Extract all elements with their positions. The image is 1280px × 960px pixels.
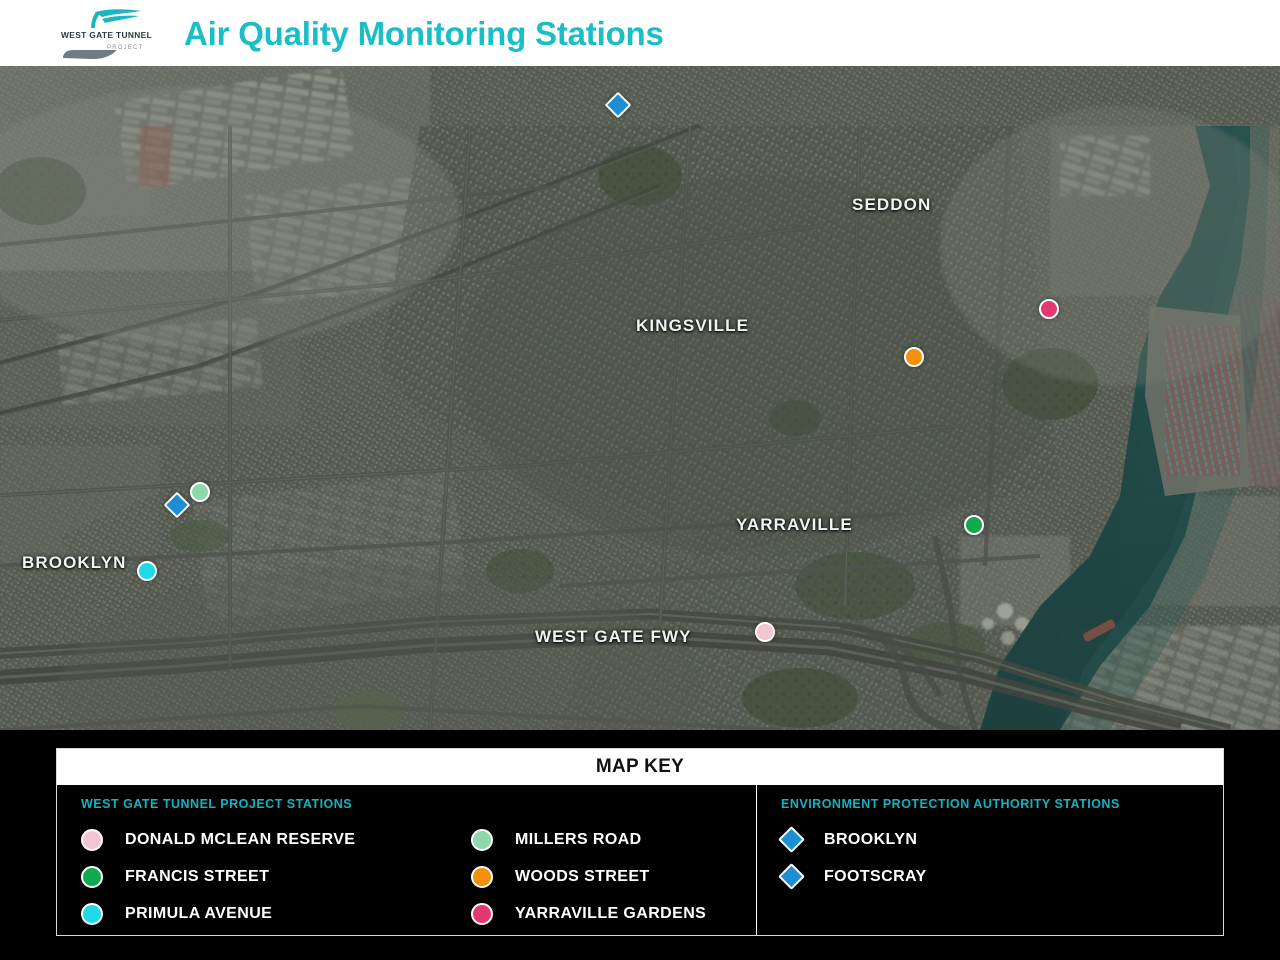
circle-icon <box>471 866 493 888</box>
diamond-icon <box>778 826 805 853</box>
map-marker-woods-street[interactable] <box>904 347 924 367</box>
legend-item-primula-avenue[interactable]: PRIMULA AVENUE <box>81 895 471 932</box>
legend-label: FOOTSCRAY <box>824 868 927 886</box>
map-marker-millers-road[interactable] <box>190 482 210 502</box>
map-marker-donald-mclean-reserve[interactable] <box>755 622 775 642</box>
legend-item-millers-road[interactable]: MILLERS ROAD <box>471 821 751 858</box>
map-key-wgtp-column-1: DONALD MCLEAN RESERVE FRANCIS STREET PRI… <box>81 821 471 932</box>
page-title: Air Quality Monitoring Stations <box>184 12 664 56</box>
map-marker-yarraville-gardens[interactable] <box>1039 299 1059 319</box>
map-marker-primula-avenue[interactable] <box>137 561 157 581</box>
legend-item-woods-street[interactable]: WOODS STREET <box>471 858 751 895</box>
legend-label: PRIMULA AVENUE <box>125 905 272 923</box>
map-imagery <box>0 66 1280 730</box>
legend-label: BROOKLYN <box>824 831 917 849</box>
circle-icon <box>81 866 103 888</box>
page-header: WEST GATE TUNNEL PROJECT Air Quality Mon… <box>0 0 1280 66</box>
legend-item-francis-street[interactable]: FRANCIS STREET <box>81 858 471 895</box>
circle-icon <box>81 903 103 925</box>
svg-text:WEST GATE TUNNEL: WEST GATE TUNNEL <box>61 30 152 40</box>
diamond-icon <box>778 863 805 890</box>
map-key-title-bar: MAP KEY <box>57 749 1223 785</box>
map-key-title: MAP KEY <box>596 756 684 778</box>
map-key-wgtp-column-2: MILLERS ROAD WOODS STREET YARRAVILLE GAR… <box>471 821 751 932</box>
legend-item-brooklyn[interactable]: BROOKLYN <box>781 821 1213 858</box>
legend-label: FRANCIS STREET <box>125 868 269 886</box>
map-marker-francis-street[interactable] <box>964 515 984 535</box>
legend-label: YARRAVILLE GARDENS <box>515 905 706 923</box>
west-gate-tunnel-project-logo: WEST GATE TUNNEL PROJECT <box>55 6 155 60</box>
legend-label: WOODS STREET <box>515 868 650 886</box>
legend-label: MILLERS ROAD <box>515 831 642 849</box>
map-key-heading-epa: ENVIRONMENT PROTECTION AUTHORITY STATION… <box>781 797 1120 811</box>
circle-icon <box>471 903 493 925</box>
satellite-map[interactable]: SEDDON KINGSVILLE YARRAVILLE BROOKLYN WE… <box>0 66 1280 730</box>
map-key-epa-items: BROOKLYN FOOTSCRAY <box>781 821 1213 895</box>
circle-icon <box>81 829 103 851</box>
legend-item-donald-mclean-reserve[interactable]: DONALD MCLEAN RESERVE <box>81 821 471 858</box>
map-key-column-wgtp: WEST GATE TUNNEL PROJECT STATIONS DONALD… <box>57 785 757 935</box>
circle-icon <box>471 829 493 851</box>
legend-label: DONALD MCLEAN RESERVE <box>125 831 355 849</box>
map-key-heading-wgtp: WEST GATE TUNNEL PROJECT STATIONS <box>81 797 352 811</box>
air-quality-map-page: WEST GATE TUNNEL PROJECT Air Quality Mon… <box>0 0 1280 960</box>
legend-item-yarraville-gardens[interactable]: YARRAVILLE GARDENS <box>471 895 751 932</box>
map-key-panel: MAP KEY WEST GATE TUNNEL PROJECT STATION… <box>56 748 1224 936</box>
map-key-column-epa: ENVIRONMENT PROTECTION AUTHORITY STATION… <box>757 785 1223 935</box>
map-key-body: WEST GATE TUNNEL PROJECT STATIONS DONALD… <box>57 785 1223 935</box>
legend-item-footscray[interactable]: FOOTSCRAY <box>781 858 1213 895</box>
